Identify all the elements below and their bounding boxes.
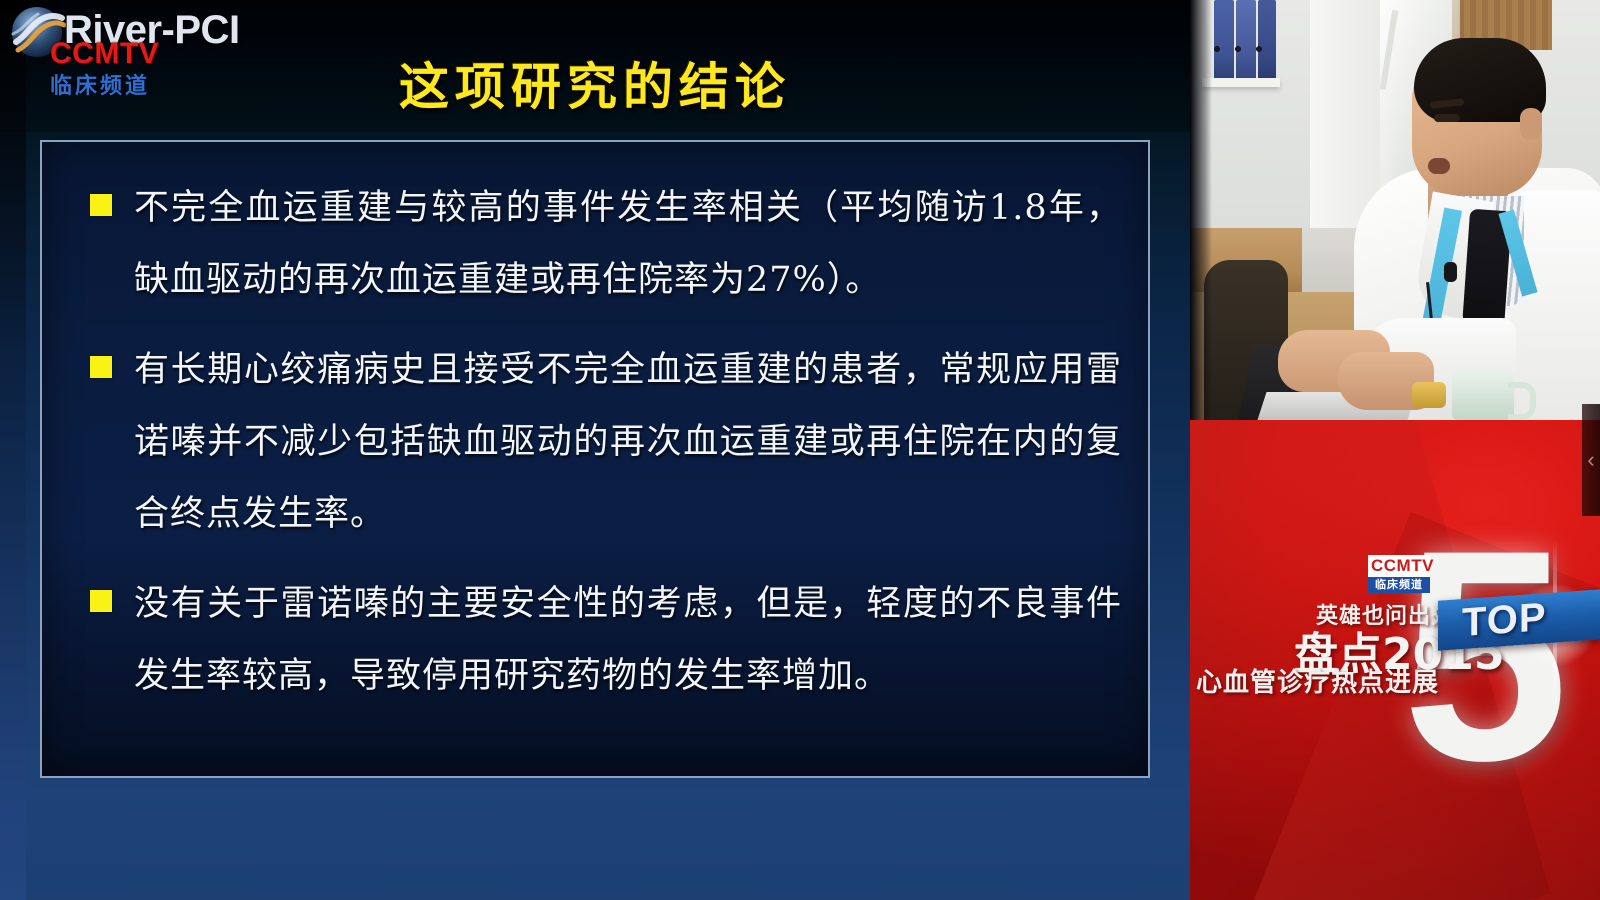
video-shelf — [1202, 78, 1280, 87]
video-doctor-eye — [1434, 114, 1460, 122]
bullet-square-icon — [90, 194, 112, 216]
video-binder — [1258, 0, 1276, 80]
screen-root: River-PCI CCMTV 临床频道 这项研究的结论 不完全血运重建与较高的… — [0, 0, 1600, 900]
slide-content-box: 不完全血运重建与较高的事件发生率相关（平均随访1.8年，缺血驱动的再次血运重建或… — [40, 140, 1150, 778]
speaker-video-feed[interactable] — [1190, 0, 1600, 420]
video-binder — [1214, 0, 1234, 80]
video-mug-handle — [1508, 382, 1536, 420]
slide-title: 这项研究的结论 — [0, 47, 1190, 119]
video-doctor-mouth — [1428, 158, 1450, 174]
slide-left-edge-gradient — [0, 0, 26, 900]
bullet-square-icon — [90, 356, 112, 378]
video-lapel-microphone — [1444, 262, 1457, 282]
bullet-item: 不完全血运重建与较高的事件发生率相关（平均随访1.8年，缺血驱动的再次血运重建或… — [68, 172, 1122, 316]
bullet-text: 有长期心绞痛病史且接受不完全血运重建的患者，常规应用雷诺嗪并不减少包括缺血驱动的… — [134, 334, 1122, 550]
promo-ccmtv-logo-text: CCMTV — [1368, 555, 1430, 577]
bullet-text: 没有关于雷诺嗪的主要安全性的考虑，但是，轻度的不良事件发生率较高，导致停用研究药… — [134, 568, 1122, 712]
promo-ccmtv-badge: CCMTV 临床频道 — [1368, 555, 1430, 593]
video-binder-rings — [1210, 44, 1280, 54]
bullet-text: 不完全血运重建与较高的事件发生率相关（平均随访1.8年，缺血驱动的再次血运重建或… — [134, 172, 1122, 316]
video-left-vignette — [1190, 0, 1212, 420]
bullet-square-icon — [90, 590, 112, 612]
video-doctor-ear — [1520, 108, 1542, 140]
promo-top-label: TOP — [1462, 595, 1547, 646]
presentation-slide-panel[interactable]: River-PCI CCMTV 临床频道 这项研究的结论 不完全血运重建与较高的… — [0, 0, 1190, 900]
collapse-panel-arrow-icon[interactable]: ‹ — [1582, 404, 1600, 516]
promo-banner-panel[interactable]: 5 CCMTV 临床频道 英雄也问出处 盘点2015 心血管诊疗热点进展 TOP — [1190, 420, 1600, 900]
video-mug — [1452, 372, 1514, 420]
video-wristwatch — [1412, 382, 1446, 408]
bullet-item: 没有关于雷诺嗪的主要安全性的考虑，但是，轻度的不良事件发生率较高，导致停用研究药… — [68, 568, 1122, 712]
promo-ccmtv-channel-text: 临床频道 — [1368, 577, 1430, 593]
bullet-item: 有长期心绞痛病史且接受不完全血运重建的患者，常规应用雷诺嗪并不减少包括缺血驱动的… — [68, 334, 1122, 550]
video-binder — [1236, 0, 1256, 80]
promo-subtitle: 心血管诊疗热点进展 — [1196, 662, 1439, 699]
